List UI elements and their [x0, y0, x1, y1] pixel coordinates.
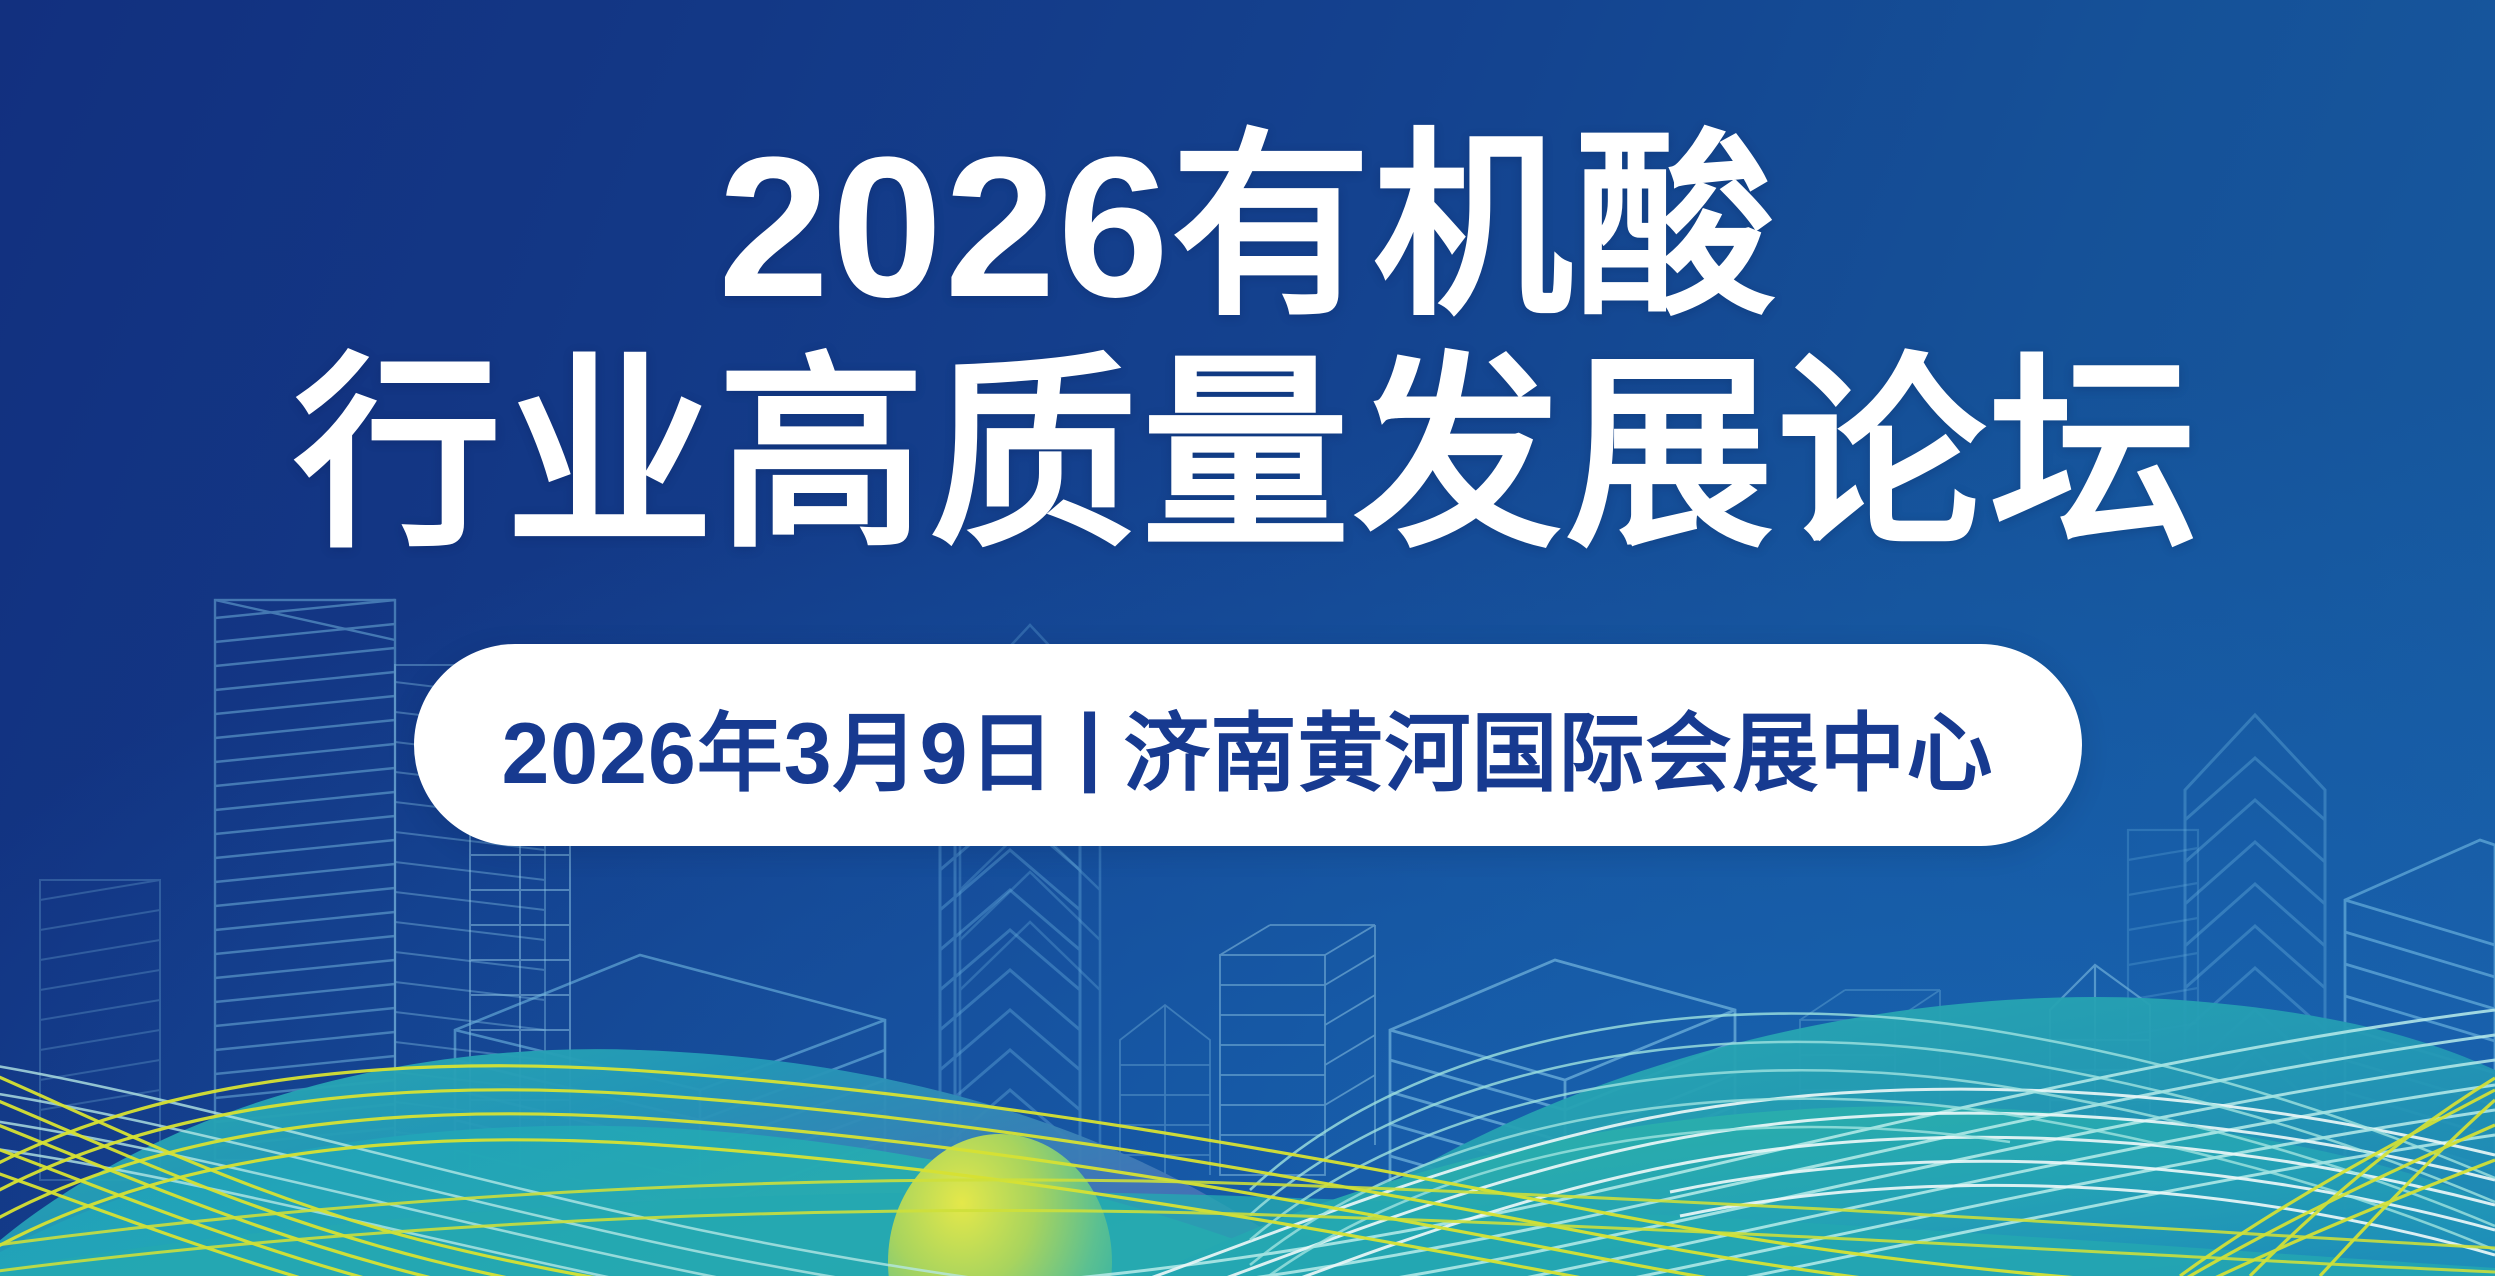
- event-date: 2026年3月9日: [501, 683, 1055, 808]
- banner-content: 2026有机酸 行业高质量发展论坛 2026年3月9日 | 济南黄河国际会展中心: [0, 0, 2495, 1276]
- title-block: 2026有机酸 行业高质量发展论坛: [0, 128, 2495, 566]
- title-line-1: 2026有机酸: [0, 128, 2495, 328]
- title-line-2: 行业高质量发展论坛: [0, 346, 2495, 566]
- event-venue: 济南黄河国际会展中心: [1124, 683, 1994, 808]
- event-banner: 2026有机酸 行业高质量发展论坛 2026年3月9日 | 济南黄河国际会展中心: [0, 0, 2495, 1276]
- pill-separator: |: [1055, 696, 1123, 795]
- event-info-pill: 2026年3月9日 | 济南黄河国际会展中心: [414, 644, 2082, 846]
